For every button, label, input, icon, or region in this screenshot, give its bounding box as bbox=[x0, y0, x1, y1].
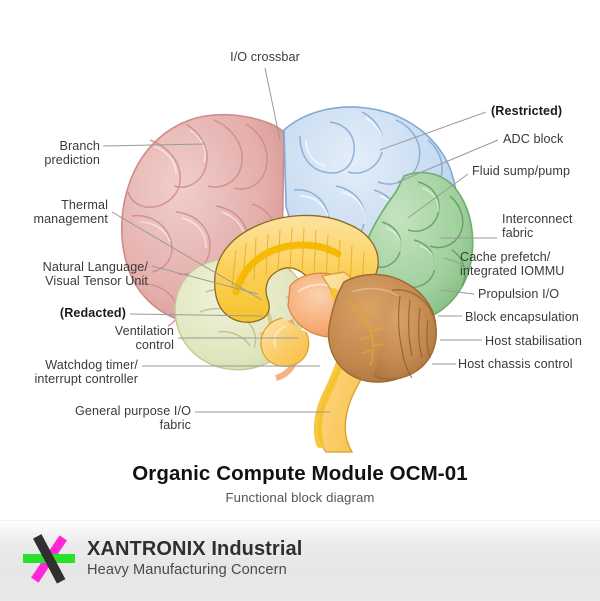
label-interconnect-fabric: Interconnect fabric bbox=[502, 212, 600, 240]
brand-name: XANTRONIX Industrial bbox=[87, 538, 302, 561]
label-io-crossbar: I/O crossbar bbox=[195, 50, 335, 64]
label-cache-prefetch-integrated-iommu: Cache prefetch/ integrated IOMMU bbox=[460, 250, 600, 278]
label-host-chassis-control: Host chassis control bbox=[458, 357, 600, 371]
leader-branch-prediction bbox=[103, 144, 205, 146]
label-adc-block: ADC block bbox=[503, 132, 600, 146]
label-propulsion-io: Propulsion I/O bbox=[478, 287, 600, 301]
leader-redacted bbox=[130, 314, 262, 316]
leader-propulsion-io bbox=[440, 290, 474, 294]
leader-restricted bbox=[380, 112, 486, 150]
label-fluid-sump-pump: Fluid sump/pump bbox=[472, 164, 600, 178]
leader-fluid-sump bbox=[408, 174, 468, 218]
brand-text: XANTRONIX Industrial Heavy Manufacturing… bbox=[87, 538, 302, 580]
brain-diagram: I/O crossbar Branch prediction Thermal m… bbox=[0, 0, 600, 455]
label-thermal-management: Thermal management bbox=[0, 198, 108, 226]
label-natural-language-visual-tensor-unit: Natural Language/ Visual Tensor Unit bbox=[0, 260, 148, 288]
title-block: Organic Compute Module OCM-01 Functional… bbox=[0, 462, 600, 505]
page-title: Organic Compute Module OCM-01 bbox=[0, 462, 600, 486]
leader-io-crossbar bbox=[265, 68, 280, 140]
footer-bar: XANTRONIX Industrial Heavy Manufacturing… bbox=[0, 520, 600, 601]
diagram-page: I/O crossbar Branch prediction Thermal m… bbox=[0, 0, 600, 600]
label-restricted: (Restricted) bbox=[491, 104, 600, 118]
brand-tagline: Heavy Manufacturing Concern bbox=[87, 561, 302, 580]
xantronix-logo-icon bbox=[22, 533, 76, 585]
brand-block: XANTRONIX Industrial Heavy Manufacturing… bbox=[22, 533, 302, 585]
label-general-purpose-io-fabric: General purpose I/O fabric bbox=[0, 404, 191, 432]
label-watchdog-timer-interrupt-controller: Watchdog timer/ interrupt controller bbox=[0, 358, 138, 386]
label-redacted: (Redacted) bbox=[0, 306, 126, 320]
label-block-encapsulation: Block encapsulation bbox=[465, 310, 600, 324]
label-branch-prediction: Branch prediction bbox=[0, 139, 100, 167]
leader-natural-language bbox=[152, 266, 258, 294]
label-ventilation-control: Ventilation control bbox=[0, 324, 174, 352]
page-subtitle: Functional block diagram bbox=[0, 490, 600, 505]
label-host-stabilisation: Host stabilisation bbox=[485, 334, 600, 348]
